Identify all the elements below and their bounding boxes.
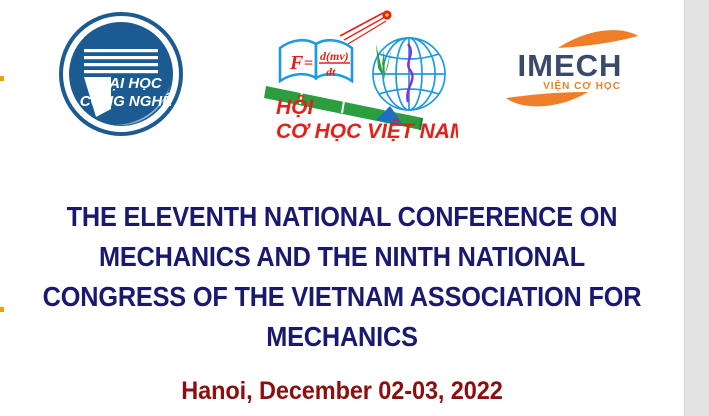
slide-canvas: ĐẠI HỌC CÔNG NGHỆ: [0, 0, 709, 416]
vam-logo-line1: HỘI: [276, 95, 315, 119]
conference-title: THE ELEVENTH NATIONAL CONFERENCE ON MECH…: [27, 197, 656, 357]
vietnam-map-icon: [407, 44, 412, 102]
globe-icon: [373, 38, 445, 110]
imech-swoosh-bottom-icon: [506, 92, 588, 106]
vam-formula-numerator: d(mv): [320, 49, 349, 63]
vam-formula-denominator: dt: [326, 65, 336, 79]
uet-logo-line2: CÔNG NGHỆ: [80, 92, 174, 110]
vam-formula-lhs: F: [289, 52, 304, 74]
imech-swoosh-top-icon: [558, 30, 638, 48]
imech-emblem-icon: IMECH VIỆN CƠ HỌC: [496, 18, 646, 118]
slide-content: ĐẠI HỌC CÔNG NGHỆ: [0, 0, 684, 416]
conference-dateline: Hanoi, December 02-03, 2022: [21, 374, 664, 408]
logo-strip: ĐẠI HỌC CÔNG NGHỆ: [0, 0, 684, 152]
imech-logo: IMECH VIỆN CƠ HỌC: [496, 18, 646, 118]
conference-title-line-4: MECHANICS: [27, 317, 656, 357]
open-book-icon: F = d(mv) dt: [280, 40, 352, 81]
vnu-uet-emblem-icon: ĐẠI HỌC CÔNG NGHỆ: [58, 11, 184, 137]
vam-formula-equals: =: [304, 55, 313, 72]
vnu-uet-logo: ĐẠI HỌC CÔNG NGHỆ: [58, 11, 184, 137]
imech-wordmark: IMECH: [518, 48, 623, 83]
uet-logo-line1: ĐẠI HỌC: [98, 75, 163, 92]
comet-icon: [340, 13, 386, 44]
vertical-scrollbar[interactable]: [684, 0, 709, 416]
vam-emblem-icon: F = d(mv) dt: [258, 6, 458, 142]
conference-title-line-1: THE ELEVENTH NATIONAL CONFERENCE ON: [27, 197, 656, 237]
conference-title-line-2: MECHANICS AND THE NINTH NATIONAL: [27, 237, 656, 277]
edge-marker-bottom: [0, 307, 4, 312]
edge-marker-top: [0, 76, 4, 81]
vam-logo-line2: CƠ HỌC VIỆT NAM: [276, 119, 458, 142]
vietnam-association-for-mechanics-logo: F = d(mv) dt: [258, 6, 458, 142]
conference-title-line-3: CONGRESS OF THE VIETNAM ASSOCIATION FOR: [27, 277, 656, 317]
imech-subtitle: VIỆN CƠ HỌC: [543, 79, 621, 92]
